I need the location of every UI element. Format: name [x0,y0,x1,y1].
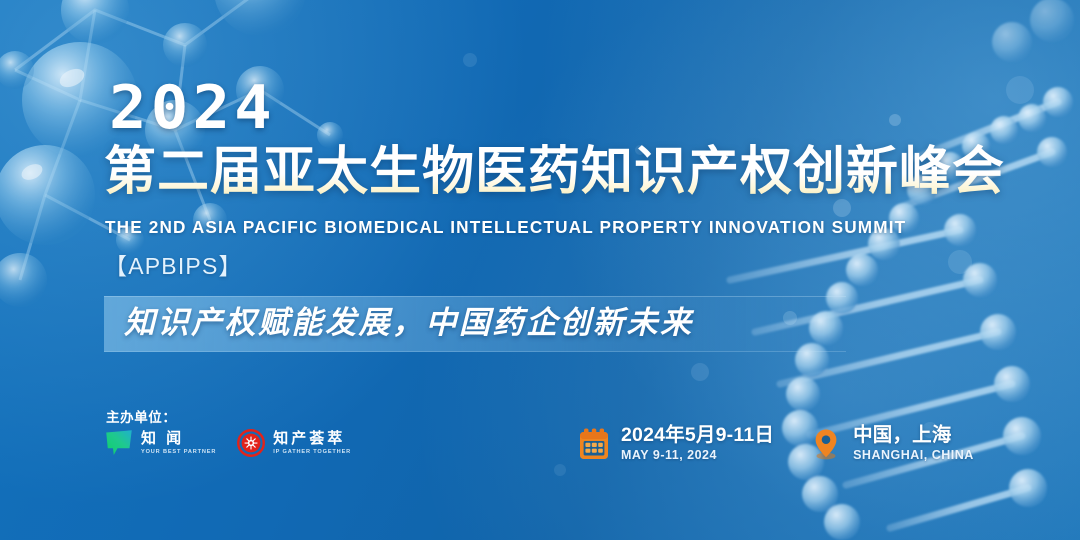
event-location: 中国，上海 SHANGHAI, CHINA [810,424,974,463]
organizer-tagline-en: IP GATHER TOGETHER [273,448,351,457]
organizer-item-zhiwen: 知 闻 YOUR BEST PARTNER [104,428,216,458]
abbreviation-label: 【APBIPS】 [104,252,243,280]
event-date: 2024年5月9-11日 MAY 9-11, 2024 [578,424,774,463]
organizer-label: 主办单位： [106,409,177,427]
slogan-text: 知识产权赋能发展，中国药企创新未来 [124,300,694,346]
event-date-en: MAY 9-11, 2024 [621,447,774,463]
title-chinese: 第二届亚太生物医药知识产权创新峰会 [104,143,1005,201]
organizer-name-cn: 知产荟萃 [273,430,351,448]
event-date-text: 2024年5月9-11日 MAY 9-11, 2024 [621,424,774,463]
organizer-text-zhichanhuicui: 知产荟萃 IP GATHER TOGETHER [273,430,351,457]
organizer-item-zhichanhuicui: 知产荟萃 IP GATHER TOGETHER [236,428,351,458]
organizer-text-zhiwen: 知 闻 YOUR BEST PARTNER [141,430,216,457]
map-pin-icon [810,427,842,461]
organizer-list: 知 闻 YOUR BEST PARTNER [104,428,351,458]
year-heading: 2024 [109,78,276,138]
event-info: 2024年5月9-11日 MAY 9-11, 2024 中国，上海 SHANGH… [578,424,974,463]
event-date-cn: 2024年5月9-11日 [621,424,774,447]
conference-poster: 2024 第二届亚太生物医药知识产权创新峰会 THE 2ND ASIA PACI… [0,0,1080,540]
poster-content: 2024 第二届亚太生物医药知识产权创新峰会 THE 2ND ASIA PACI… [0,0,1080,540]
organizer-name-cn: 知 闻 [141,430,216,448]
speech-bubble-logo-icon [104,428,134,458]
calendar-icon [578,427,610,461]
red-circle-emblem-icon [236,428,266,458]
event-location-cn: 中国，上海 [853,424,974,447]
event-location-text: 中国，上海 SHANGHAI, CHINA [853,424,974,463]
title-english: THE 2ND ASIA PACIFIC BIOMEDICAL INTELLEC… [105,216,906,238]
organizer-tagline-en: YOUR BEST PARTNER [141,448,216,457]
event-location-en: SHANGHAI, CHINA [853,447,974,463]
